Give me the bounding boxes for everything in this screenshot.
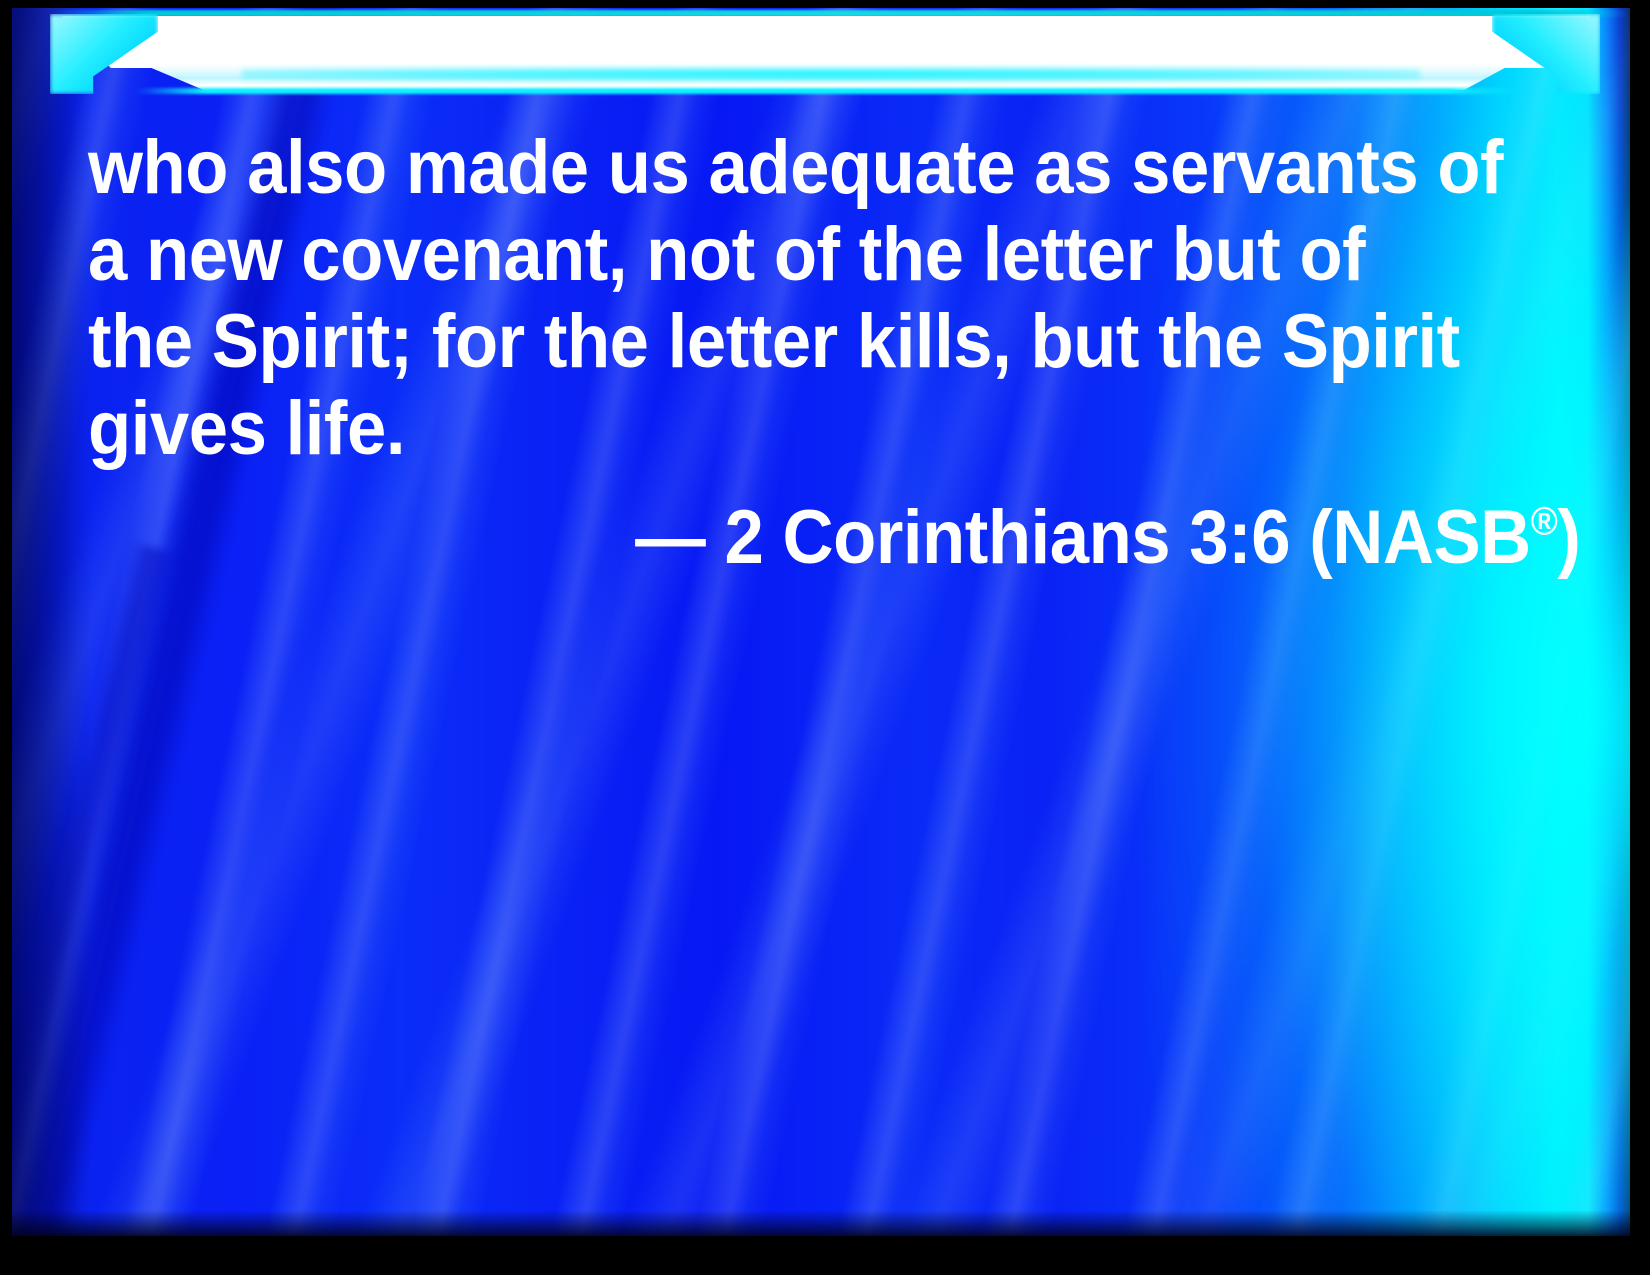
- verse-citation: — 2 Corinthians 3:6 (NASB®): [88, 496, 1588, 580]
- citation-closing-paren: ): [1557, 495, 1580, 580]
- top-banner: [12, 10, 1630, 94]
- banner-bottom-cyan-line: [136, 88, 1518, 94]
- background-left-vignette: [12, 8, 92, 1236]
- banner-top-teal-line: [52, 10, 1630, 17]
- verse-line-1: who also made us adequate as servants of: [88, 124, 1483, 211]
- background-bottom-vignette: [12, 1210, 1630, 1236]
- verse-slide: who also made us adequate as servants of…: [0, 0, 1650, 1275]
- verse-citation-inner: — 2 Corinthians 3:6 (NASB®): [635, 496, 1580, 580]
- verse-line-2: a new covenant, not of the letter but of: [88, 211, 1483, 298]
- verse-line-4: gives life.: [88, 385, 1483, 472]
- slide-canvas: who also made us adequate as servants of…: [12, 8, 1630, 1236]
- banner-white-band: [62, 16, 1590, 68]
- banner-cyan-glow: [242, 68, 1420, 80]
- citation-reference: 2 Corinthians 3:6 (NASB: [724, 495, 1530, 580]
- verse-text-block: who also made us adequate as servants of…: [88, 124, 1588, 580]
- registered-trademark-icon: ®: [1530, 500, 1557, 544]
- citation-em-dash: —: [635, 495, 724, 580]
- verse-line-3: the Spirit; for the letter kills, but th…: [88, 298, 1483, 385]
